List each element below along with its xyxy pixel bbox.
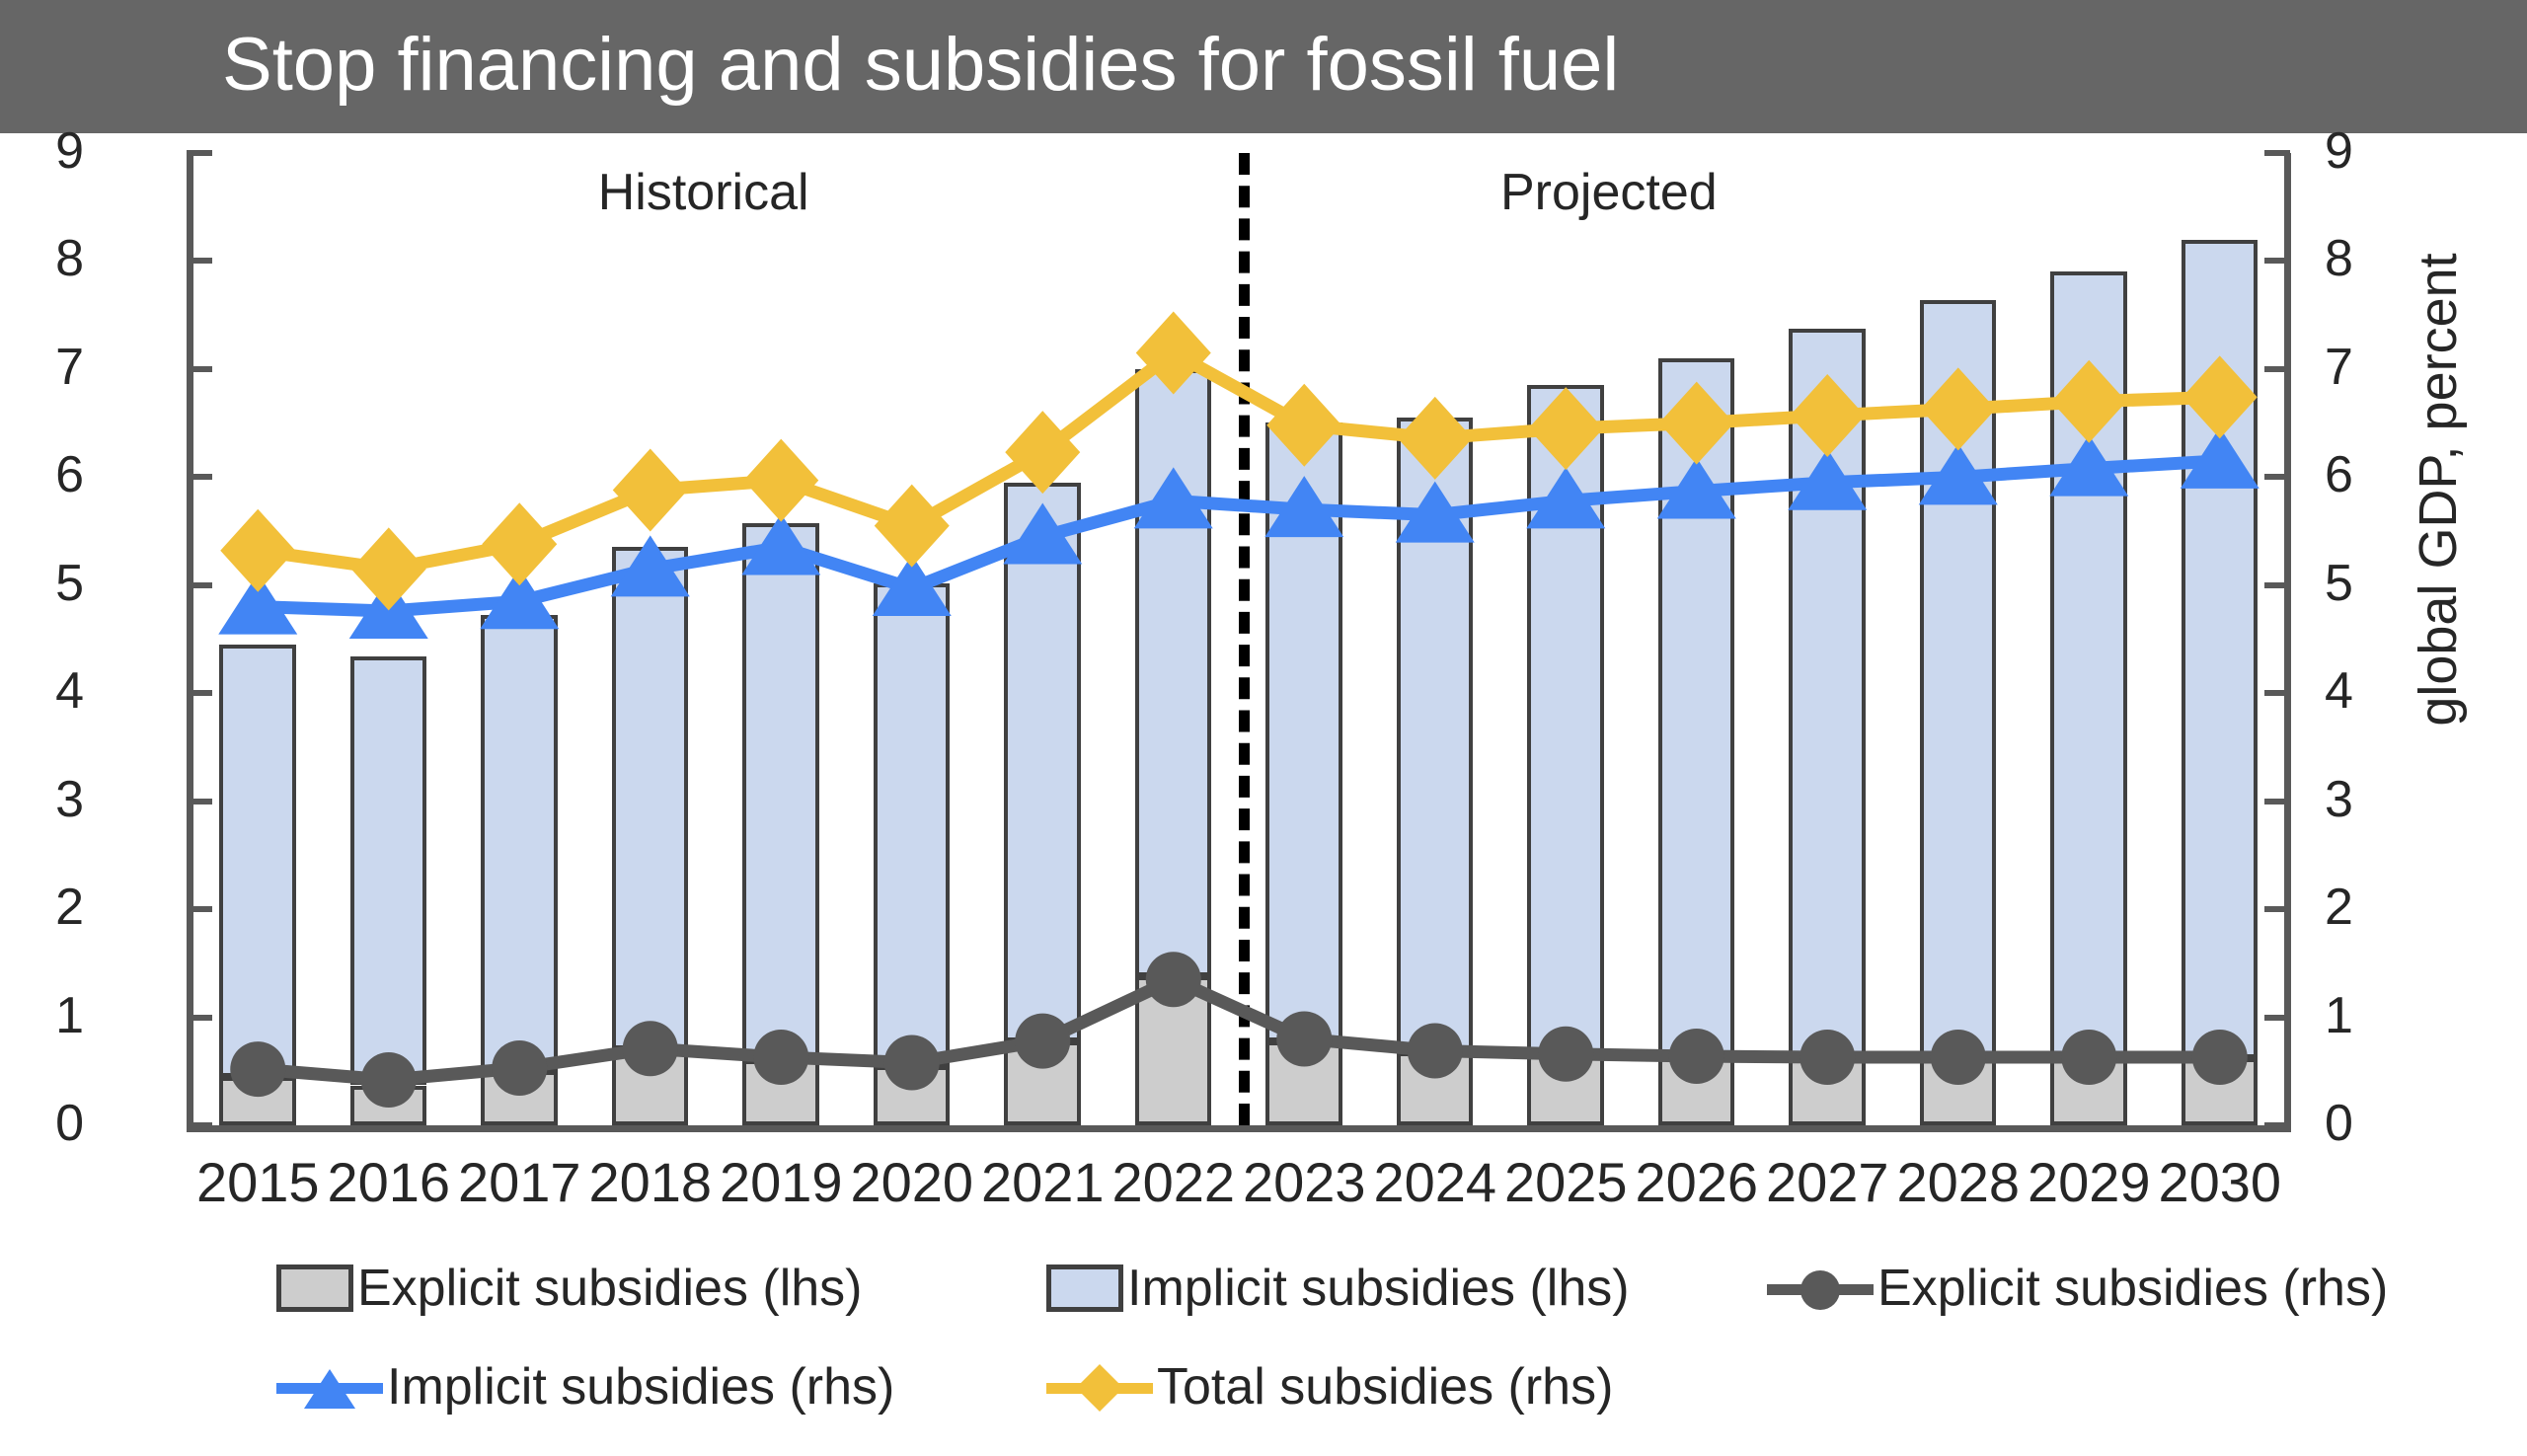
y-tick-label-left: 9 xyxy=(0,125,84,177)
x-tick-label-2016: 2016 xyxy=(324,1150,455,1214)
explicit-subsidies-rhs-marker[interactable] xyxy=(361,1052,417,1108)
explicit-subsidies-rhs-marker[interactable] xyxy=(623,1021,678,1076)
line-series-overlay xyxy=(192,153,2285,1125)
x-axis-tick-labels: 2015201620172018201920202021202220232024… xyxy=(192,1150,2285,1229)
y-tick-label-left: 7 xyxy=(0,342,84,393)
legend-label: Implicit subsidies (lhs) xyxy=(1127,1259,1630,1318)
legend-marker-diamond xyxy=(1076,1364,1123,1412)
total-subsidies-rhs-marker[interactable] xyxy=(482,502,557,585)
y-tick-label-right: 6 xyxy=(2325,449,2413,500)
total-subsidies-rhs-marker[interactable] xyxy=(1398,397,1473,480)
y-tick-label-right: 1 xyxy=(2325,990,2413,1041)
x-tick-label-2026: 2026 xyxy=(1632,1150,1763,1214)
explicit-subsidies-rhs-marker[interactable] xyxy=(884,1035,940,1091)
legend-label: Total subsidies (rhs) xyxy=(1157,1357,1613,1417)
legend-swatch-line xyxy=(1767,1264,1874,1312)
explicit-subsidies-rhs-marker[interactable] xyxy=(1276,1011,1332,1066)
total-subsidies-rhs-marker[interactable] xyxy=(1921,367,1996,450)
legend-item[interactable]: Explicit subsidies (lhs) xyxy=(276,1259,863,1318)
total-subsidies-rhs-marker[interactable] xyxy=(1005,411,1080,494)
y-tick-label-left: 6 xyxy=(0,449,84,500)
total-subsidies-rhs-marker[interactable] xyxy=(2051,360,2126,443)
x-tick-label-2023: 2023 xyxy=(1239,1150,1370,1214)
x-axis xyxy=(187,1125,2291,1132)
total-subsidies-rhs-marker[interactable] xyxy=(1790,374,1865,457)
total-subsidies-rhs-marker[interactable] xyxy=(220,509,295,592)
x-tick-label-2015: 2015 xyxy=(192,1150,324,1214)
y-tick-label-left: 3 xyxy=(0,774,84,825)
total-subsidies-rhs-marker[interactable] xyxy=(743,439,818,522)
total-subsidies-rhs-line xyxy=(258,352,2220,569)
explicit-subsidies-rhs-marker[interactable] xyxy=(1015,1014,1070,1069)
y-axis-right xyxy=(2284,153,2291,1125)
x-tick-label-2020: 2020 xyxy=(847,1150,978,1214)
total-subsidies-rhs-marker[interactable] xyxy=(2182,355,2258,438)
y-tick-label-right: 0 xyxy=(2325,1098,2413,1149)
legend-swatch-box xyxy=(1046,1264,1123,1312)
annotation-projected: Projected xyxy=(1500,163,1718,222)
legend-item[interactable]: Implicit subsidies (lhs) xyxy=(1046,1259,1630,1318)
y-tick-label-right: 5 xyxy=(2325,558,2413,609)
y-axis-right-title: global GDP, percent xyxy=(2408,233,2469,746)
implicit-subsidies-rhs-marker[interactable] xyxy=(741,513,820,575)
y-tick-label-right: 3 xyxy=(2325,774,2413,825)
y-tick-label-right: 9 xyxy=(2325,125,2413,177)
x-tick-label-2019: 2019 xyxy=(716,1150,847,1214)
chart-area: 0123456789 0123456789 Historical Project… xyxy=(0,133,2527,1418)
total-subsidies-rhs-marker[interactable] xyxy=(1528,387,1603,470)
y-tick-label-right: 4 xyxy=(2325,665,2413,717)
annotation-historical: Historical xyxy=(598,163,809,222)
y-tick-label-left: 5 xyxy=(0,558,84,609)
x-tick-label-2025: 2025 xyxy=(1500,1150,1632,1214)
y-tick-label-right: 8 xyxy=(2325,233,2413,284)
explicit-subsidies-rhs-marker[interactable] xyxy=(2192,1030,2248,1085)
explicit-subsidies-rhs-marker[interactable] xyxy=(1931,1030,1986,1085)
y-tick-label-left: 2 xyxy=(0,881,84,933)
x-tick-label-2021: 2021 xyxy=(977,1150,1109,1214)
x-tick-label-2028: 2028 xyxy=(1893,1150,2025,1214)
explicit-subsidies-rhs-marker[interactable] xyxy=(492,1040,547,1096)
total-subsidies-rhs-marker[interactable] xyxy=(1266,384,1341,467)
legend-label: Implicit subsidies (rhs) xyxy=(387,1357,894,1417)
legend-swatch-line xyxy=(276,1363,383,1411)
total-subsidies-rhs-marker[interactable] xyxy=(1136,311,1211,394)
explicit-subsidies-rhs-marker[interactable] xyxy=(1408,1023,1463,1078)
legend-marker-triangle xyxy=(304,1369,355,1409)
x-tick-label-2027: 2027 xyxy=(1762,1150,1893,1214)
y-tick-label-left: 0 xyxy=(0,1098,84,1149)
page-title: Stop financing and subsidies for fossil … xyxy=(222,16,1619,115)
legend-label: Explicit subsidies (lhs) xyxy=(357,1259,863,1318)
legend-swatch-box xyxy=(276,1264,353,1312)
x-tick-label-2018: 2018 xyxy=(585,1150,717,1214)
legend-marker-circle xyxy=(1800,1270,1840,1310)
explicit-subsidies-rhs-marker[interactable] xyxy=(1800,1030,1855,1085)
x-tick-label-2030: 2030 xyxy=(2155,1150,2286,1214)
explicit-subsidies-rhs-marker[interactable] xyxy=(230,1041,285,1097)
title-banner: Stop financing and subsidies for fossil … xyxy=(0,0,2527,133)
x-tick-label-2029: 2029 xyxy=(2024,1150,2155,1214)
total-subsidies-rhs-marker[interactable] xyxy=(1659,382,1734,465)
y-tick-label-left: 8 xyxy=(0,233,84,284)
total-subsidies-rhs-marker[interactable] xyxy=(875,485,950,568)
legend-swatch-line xyxy=(1046,1363,1153,1411)
legend-item[interactable]: Total subsidies (rhs) xyxy=(1046,1357,1613,1417)
y-tick-label-left: 4 xyxy=(0,665,84,717)
legend-item[interactable]: Explicit subsidies (rhs) xyxy=(1767,1259,2388,1318)
total-subsidies-rhs-marker[interactable] xyxy=(613,448,688,531)
y-tick-label-right: 2 xyxy=(2325,881,2413,933)
x-tick-label-2017: 2017 xyxy=(454,1150,585,1214)
y-tick-label-right: 7 xyxy=(2325,342,2413,393)
explicit-subsidies-rhs-marker[interactable] xyxy=(1538,1027,1593,1082)
legend-item[interactable]: Implicit subsidies (rhs) xyxy=(276,1357,894,1417)
total-subsidies-rhs-marker[interactable] xyxy=(351,527,426,610)
explicit-subsidies-rhs-marker[interactable] xyxy=(753,1030,808,1085)
legend-label: Explicit subsidies (rhs) xyxy=(1877,1259,2388,1318)
y-tick-label-left: 1 xyxy=(0,990,84,1041)
explicit-subsidies-rhs-line xyxy=(258,979,2220,1080)
x-tick-label-2024: 2024 xyxy=(1370,1150,1501,1214)
explicit-subsidies-rhs-marker[interactable] xyxy=(1669,1029,1724,1084)
explicit-subsidies-rhs-marker[interactable] xyxy=(2061,1030,2116,1085)
explicit-subsidies-rhs-marker[interactable] xyxy=(1146,952,1201,1007)
plot-region: 0123456789 0123456789 Historical Project… xyxy=(192,153,2285,1125)
chart-legend: Explicit subsidies (lhs)Implicit subsidi… xyxy=(0,1259,2527,1456)
x-tick-label-2022: 2022 xyxy=(1109,1150,1240,1214)
